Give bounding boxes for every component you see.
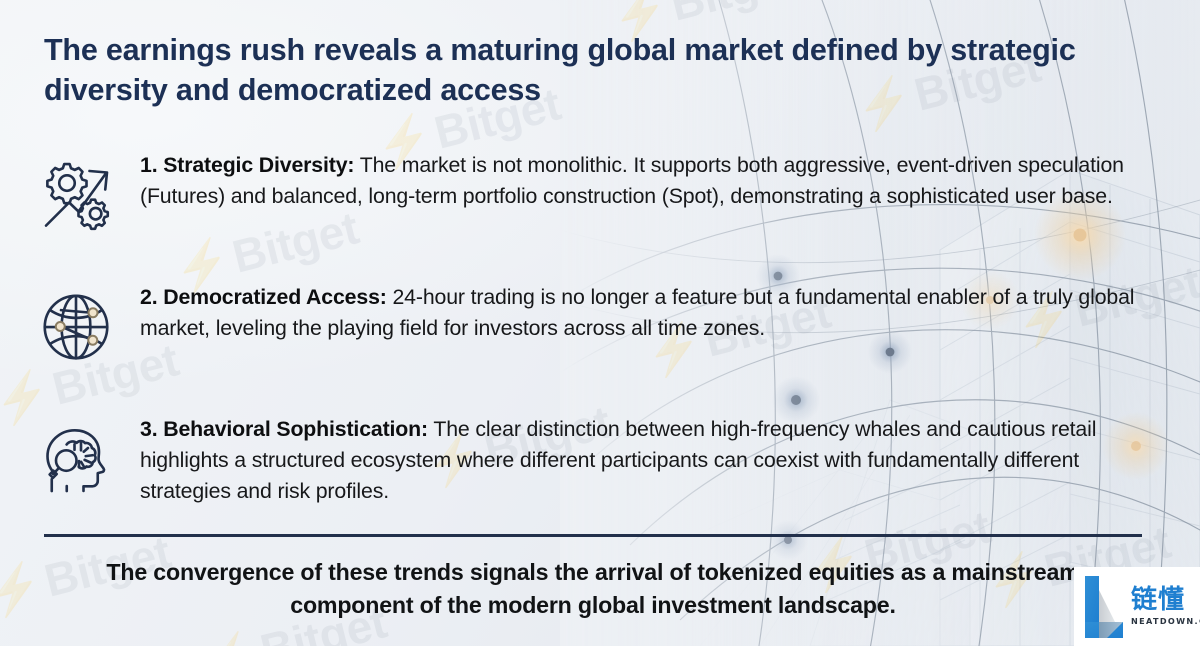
- brand-url: NEATDOWN.COM: [1131, 616, 1200, 626]
- list-item-lead: 1. Strategic Diversity:: [140, 153, 354, 177]
- list-item: 3. Behavioral Sophistication: The clear …: [0, 414, 1200, 524]
- list-item-text: 1. Strategic Diversity: The market is no…: [140, 150, 1150, 212]
- list-item-lead: 2. Democratized Access:: [140, 285, 387, 309]
- brand-logo: 链懂 NEATDOWN.COM: [1074, 567, 1200, 646]
- globe-network-icon: [33, 284, 119, 370]
- list-item-lead: 3. Behavioral Sophistication:: [140, 417, 428, 441]
- list-item-text: 3. Behavioral Sophistication: The clear …: [140, 414, 1150, 508]
- gears-growth-arrow-icon: [33, 152, 119, 238]
- head-brain-magnifier-icon: [33, 416, 119, 502]
- key-points-list: 1. Strategic Diversity: The market is no…: [0, 150, 1200, 524]
- letter-l-mark-icon: [1082, 576, 1126, 638]
- page-title: The earnings rush reveals a maturing glo…: [44, 31, 1154, 111]
- section-divider: [44, 534, 1142, 537]
- list-item: 1. Strategic Diversity: The market is no…: [0, 150, 1200, 260]
- brand-chinese-name: 链懂: [1131, 587, 1200, 614]
- slide-content: The earnings rush reveals a maturing glo…: [0, 0, 1200, 646]
- conclusion-text: The convergence of these trends signals …: [44, 556, 1142, 623]
- list-item: 2. Democratized Access: 24-hour trading …: [0, 282, 1200, 392]
- list-item-text: 2. Democratized Access: 24-hour trading …: [140, 282, 1150, 344]
- brand-wordmark: 链懂 NEATDOWN.COM: [1131, 587, 1200, 627]
